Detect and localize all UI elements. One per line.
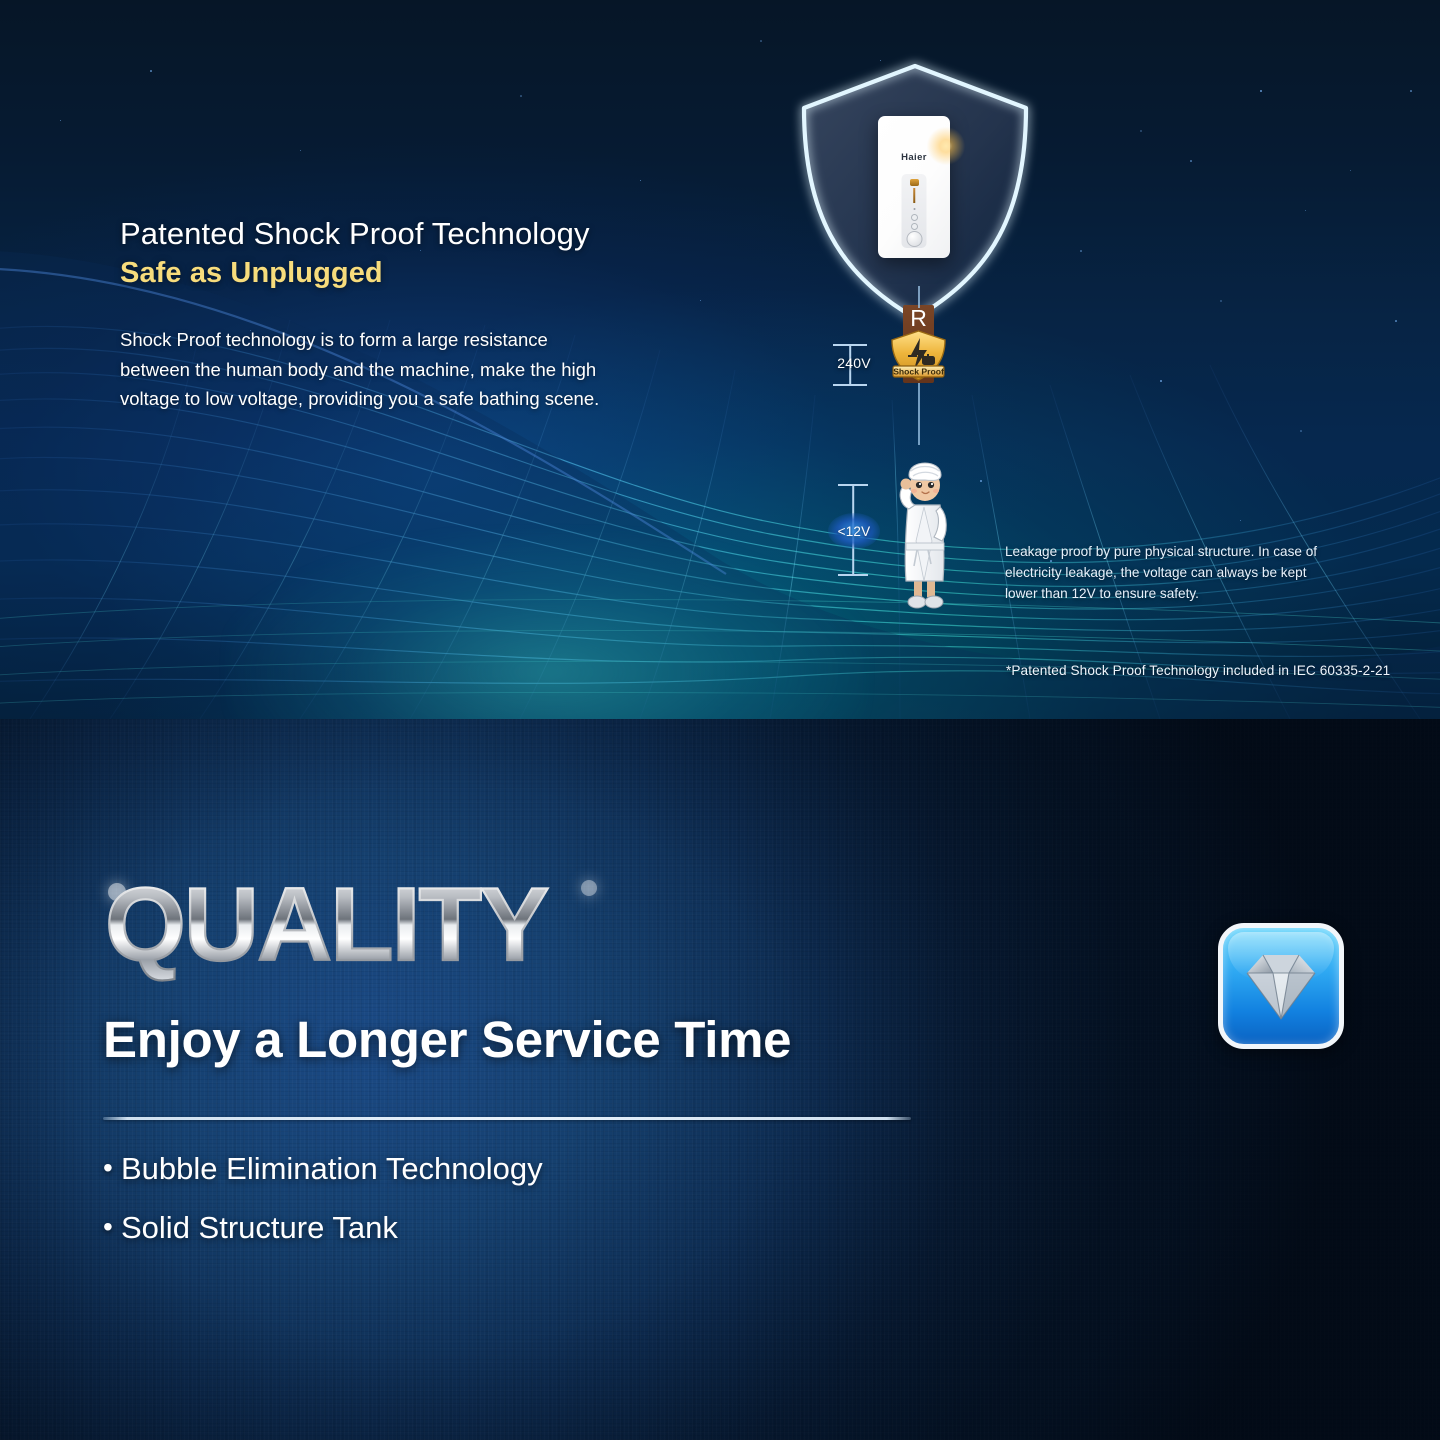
quality-wordmark: QUALITY	[105, 867, 548, 983]
patent-footnote: *Patented Shock Proof Technology include…	[1006, 663, 1390, 678]
control-panel	[902, 174, 927, 248]
indicator-bar-icon	[913, 188, 916, 203]
page-title: Patented Shock Proof Technology	[120, 216, 680, 252]
quality-panel	[0, 719, 1440, 1440]
shock-proof-copy: Patented Shock Proof Technology Safe as …	[120, 216, 680, 414]
voltage-high-label: 240V	[832, 355, 876, 371]
leakage-note: Leakage proof by pure physical structure…	[1005, 541, 1325, 604]
voltage-low-label: <12V	[828, 513, 880, 549]
shock-proof-badge: Shock Proof	[889, 330, 948, 386]
quality-headline: QUALITY	[103, 866, 603, 984]
feature-list: • Bubble Elimination Technology • Solid …	[103, 1152, 1003, 1269]
badge-label: Shock Proof	[893, 367, 944, 377]
body-text: Shock Proof technology is to form a larg…	[120, 325, 620, 414]
divider	[103, 1117, 911, 1120]
bullet-marker-icon: •	[103, 1211, 121, 1242]
light-glint	[926, 126, 966, 166]
vignette-overlay	[0, 719, 1440, 1440]
diamond-icon	[1243, 951, 1319, 1021]
quality-subtitle: Enjoy a Longer Service Time	[103, 1010, 791, 1069]
shield-graphic: Haier	[800, 62, 1030, 322]
list-item: • Bubble Elimination Technology	[103, 1152, 1003, 1187]
page-subtitle: Safe as Unplugged	[120, 257, 680, 290]
shock-proof-panel: Patented Shock Proof Technology Safe as …	[0, 0, 1440, 719]
bathrobe-person-illustration	[884, 445, 964, 620]
rotary-dial-icon	[906, 231, 922, 247]
list-item: • Solid Structure Tank	[103, 1211, 1003, 1246]
marketing-page: Patented Shock Proof Technology Safe as …	[0, 0, 1440, 1440]
floor-glow	[227, 532, 867, 719]
connector-line	[918, 286, 920, 308]
resistor-symbol: R	[903, 307, 934, 330]
diamond-icon-tile	[1218, 923, 1344, 1049]
control-button-icon	[911, 214, 918, 221]
bullet-marker-icon: •	[103, 1152, 121, 1183]
control-badge-icon	[910, 179, 919, 186]
control-button-icon	[911, 223, 918, 230]
list-item-label: Bubble Elimination Technology	[121, 1152, 543, 1187]
list-item-label: Solid Structure Tank	[121, 1211, 398, 1246]
connector-line	[918, 383, 920, 445]
led-dot-icon	[913, 208, 915, 210]
